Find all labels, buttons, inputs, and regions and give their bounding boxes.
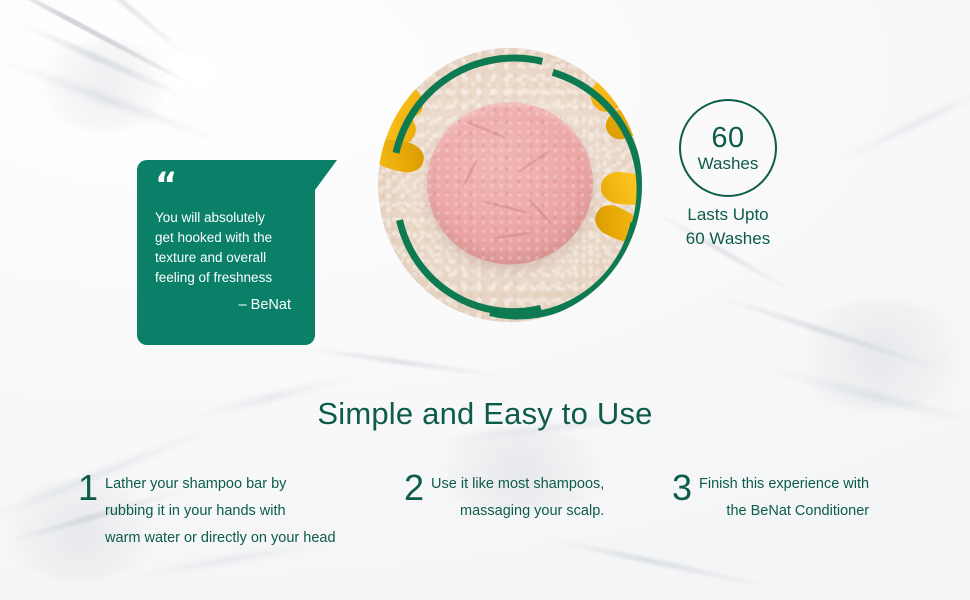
step-line: Finish this experience with: [699, 471, 869, 498]
step-line: warm water or directly on your head: [105, 525, 336, 552]
step-number: 2: [404, 471, 424, 505]
quote-line: get hooked with the: [155, 228, 299, 248]
quote-line: feeling of freshness: [155, 268, 299, 288]
quote-mark-icon: “: [155, 174, 299, 200]
step-text: Lather your shampoo bar by rubbing it in…: [105, 471, 336, 552]
step-number: 3: [672, 471, 692, 505]
badge-unit: Washes: [698, 154, 759, 174]
step-line: the BeNat Conditioner: [699, 498, 869, 525]
bar-texture: [427, 102, 593, 264]
shampoo-bar: [427, 102, 593, 264]
quote-attribution: – BeNat: [155, 297, 299, 313]
washes-caption-line: 60 Washes: [628, 227, 828, 251]
badge-count: 60: [711, 123, 744, 153]
step-item: 2 Use it like most shampoos, massaging y…: [404, 471, 630, 525]
product-photo-shampoo-bar: [378, 48, 642, 322]
testimonial-quote-bubble: “ You will absolutely get hooked with th…: [137, 160, 315, 345]
step-item: 1 Lather your shampoo bar by rubbing it …: [78, 471, 378, 552]
step-line: Lather your shampoo bar by: [105, 471, 336, 498]
infographic-canvas: “ You will absolutely get hooked with th…: [0, 0, 970, 600]
step-text: Use it like most shampoos, massaging you…: [431, 471, 604, 525]
step-line: rubbing it in your hands with: [105, 498, 336, 525]
washes-caption: Lasts Upto 60 Washes: [628, 203, 828, 251]
step-line: massaging your scalp.: [431, 498, 604, 525]
washes-badge: 60 Washes: [679, 99, 777, 197]
washes-caption-line: Lasts Upto: [628, 203, 828, 227]
badge-circle-outline: 60 Washes: [679, 99, 777, 197]
step-text: Finish this experience with the BeNat Co…: [699, 471, 869, 525]
quote-text: You will absolutely get hooked with the …: [155, 208, 299, 288]
step-number: 1: [78, 471, 98, 505]
step-item: 3 Finish this experience with the BeNat …: [672, 471, 900, 525]
section-heading: Simple and Easy to Use: [0, 396, 970, 432]
step-line: Use it like most shampoos,: [431, 471, 604, 498]
quote-line: texture and overall: [155, 248, 299, 268]
quote-line: You will absolutely: [155, 208, 299, 228]
